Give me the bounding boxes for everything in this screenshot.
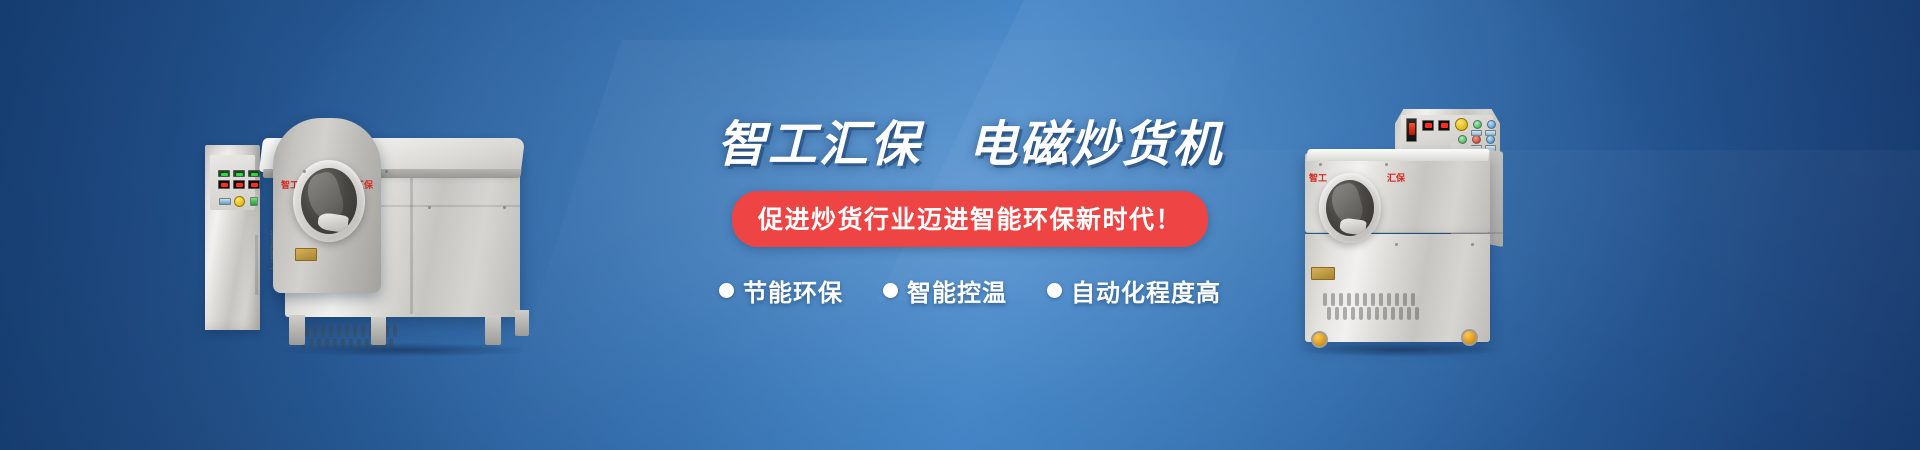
machine-right-drum-interior [1326, 180, 1374, 236]
machine-left-emergency-knob [234, 196, 245, 207]
machine-left-display-green-1 [218, 170, 230, 177]
machine-right-caster-left [1311, 331, 1328, 348]
machine-right-vents [1321, 291, 1431, 321]
machine-left-drum-interior [301, 168, 357, 234]
machine-right-display-2 [1438, 120, 1450, 131]
machine-right-body-cap [1306, 149, 1490, 161]
machine-right-brand-mark-1: 智工 [1309, 171, 1327, 184]
machine-right-display-1 [1422, 120, 1434, 131]
machine-right-button-1 [1471, 130, 1482, 136]
feature-label-3: 自动化程度高 [1071, 273, 1221, 308]
machine-left-display-row-red [218, 180, 260, 189]
machine-left-display-row-green [218, 170, 260, 177]
machine-right-lcd [1406, 118, 1417, 142]
machine-left-vents [295, 322, 407, 348]
machine-left-display-green-2 [233, 170, 245, 177]
machine-left-switch [219, 198, 231, 205]
machine-left-panel-face [210, 155, 255, 210]
bullet-dot-icon [1047, 283, 1062, 298]
machine-left-nameplate [295, 248, 317, 261]
banner-tagline: 促进炒货行业迈进智能环保新时代！ [732, 191, 1208, 247]
machine-left-cabinet-hinge [255, 235, 258, 295]
bullet-dot-icon [883, 283, 898, 298]
banner-copy: 智工汇保 电磁炒货机 促进炒货行业迈进智能环保新时代！ 节能环保 智能控温 自动… [700, 120, 1240, 308]
machine-left-start-button [250, 197, 258, 206]
machine-left-display-red-2 [233, 180, 245, 189]
machine-left-drum-blade-2 [317, 212, 349, 233]
machine-right-button-2 [1485, 130, 1496, 136]
banner-headline: 智工汇保 电磁炒货机 [700, 120, 1240, 171]
machine-left-control-cabinet [205, 145, 260, 330]
banner-feature-list: 节能环保 智能控温 自动化程度高 [700, 273, 1240, 308]
machine-right-caster-right [1461, 329, 1478, 346]
machine-left-display-green-3 [248, 170, 260, 177]
promo-banner: 许昌智工 智工 汇保 [0, 0, 1920, 450]
banner-tagline-wrap: 促进炒货行业迈进智能环保新时代！ [700, 191, 1240, 247]
bullet-dot-icon [719, 283, 734, 298]
product-image-machine-right: 智工 汇保 [1275, 95, 1555, 360]
feature-item-3: 自动化程度高 [1047, 273, 1221, 308]
machine-right-body-lower [1305, 234, 1490, 342]
feature-item-1: 节能环保 [719, 273, 843, 308]
machine-right-emergency-knob [1455, 118, 1468, 131]
machine-right-lamp-blue-1 [1487, 120, 1496, 129]
feature-label-2: 智能控温 [907, 273, 1007, 308]
machine-left-display-red-3 [248, 180, 260, 189]
headline-brand: 智工汇保 [717, 118, 921, 172]
machine-right-lamp-blue-2 [1486, 135, 1495, 144]
machine-right-brand-mark-2: 汇保 [1387, 171, 1405, 184]
machine-right-nameplate [1311, 267, 1335, 280]
machine-right-lamp-red [1472, 135, 1481, 144]
machine-right-lamp-green-1 [1473, 120, 1482, 129]
machine-right-drum-port [1319, 173, 1381, 243]
machine-left-display-red-1 [218, 180, 230, 189]
headline-product: 电磁炒货机 [968, 118, 1223, 172]
machine-left-door-split [410, 172, 413, 314]
machine-right-drum-blade-2 [1340, 217, 1368, 235]
product-image-machine-left: 许昌智工 智工 汇保 [185, 100, 565, 350]
feature-label-1: 节能环保 [743, 273, 843, 308]
feature-item-2: 智能控温 [883, 273, 1007, 308]
